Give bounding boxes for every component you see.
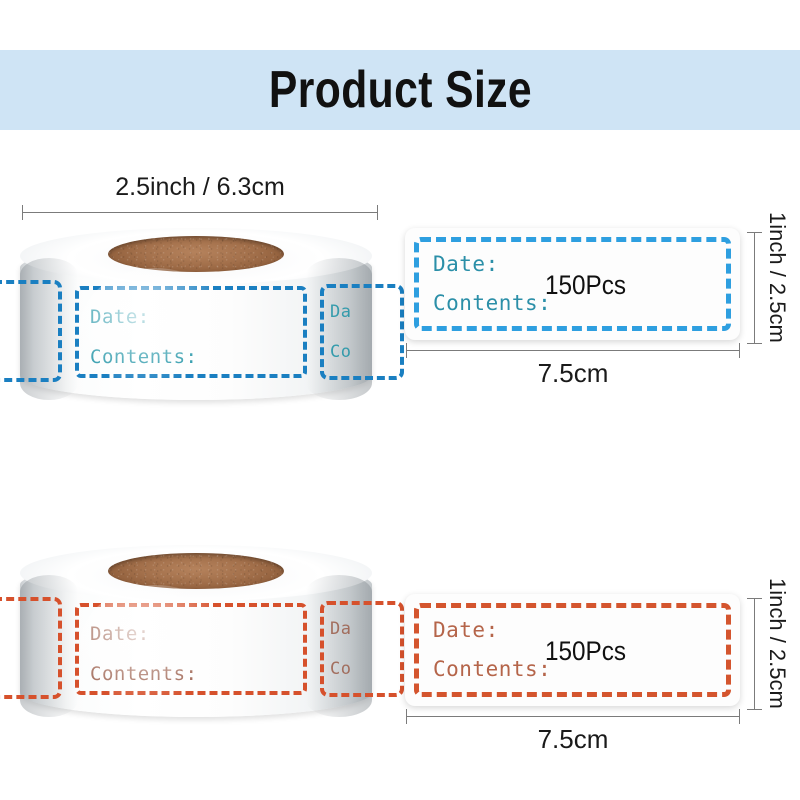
- label-contents-field: Contents:: [433, 657, 551, 681]
- roll-top-face: [20, 228, 372, 284]
- label-quantity-badge: 150Pcs: [545, 270, 626, 301]
- roll-top-face: [20, 545, 372, 601]
- roll-sticker-partial-right: [320, 284, 404, 380]
- roll-sticker-partial-left: [0, 280, 62, 382]
- label-date-field: Date:: [433, 618, 499, 642]
- roll-sticker-date-label: Date:: [90, 306, 150, 328]
- roll-sticker-contents-label: Contents:: [90, 346, 197, 368]
- red-label-width-dimension-line: [406, 716, 740, 717]
- roll-sticker-partial-contents-label: Co: [330, 659, 351, 679]
- red-label-roll: Date: Contents: Da Co: [20, 545, 372, 717]
- header-banner: Product Size: [0, 50, 800, 130]
- red-single-label: Date: Contents: 150Pcs: [405, 594, 740, 706]
- roll-sticker-partial-left: [0, 597, 62, 699]
- roll-sticker-contents-label: Contents:: [90, 663, 197, 685]
- blue-label-roll: Date: Contents: Da Co: [20, 228, 372, 400]
- blue-label-height-dimension-line: [754, 232, 755, 344]
- red-label-height-label: 1inch / 2.5cm: [764, 578, 790, 709]
- blue-label-width-dimension-line: [406, 350, 740, 351]
- roll-sticker-partial-date-label: Da: [330, 619, 351, 639]
- label-contents-field: Contents:: [433, 291, 551, 315]
- blue-single-label: Date: Contents: 150Pcs: [405, 228, 740, 340]
- blue-roll-width-dimension-line: [22, 212, 378, 213]
- roll-sticker-partial-date-label: Da: [330, 302, 351, 322]
- label-quantity-badge: 150Pcs: [545, 636, 626, 667]
- blue-roll-width-label: 2.5inch / 6.3cm: [0, 173, 400, 202]
- label-date-field: Date:: [433, 252, 499, 276]
- roll-sticker-partial-right: [320, 601, 404, 697]
- roll-sticker-date-label: Date:: [90, 623, 150, 645]
- roll-cardboard-core: [108, 553, 284, 589]
- blue-label-height-label: 1inch / 2.5cm: [764, 212, 790, 343]
- red-label-width-label: 7.5cm: [406, 724, 740, 755]
- page-title: Product Size: [268, 60, 531, 120]
- roll-sticker-partial-contents-label: Co: [330, 342, 351, 362]
- roll-cardboard-core: [108, 236, 284, 272]
- blue-label-width-label: 7.5cm: [406, 358, 740, 389]
- red-label-height-dimension-line: [754, 598, 755, 710]
